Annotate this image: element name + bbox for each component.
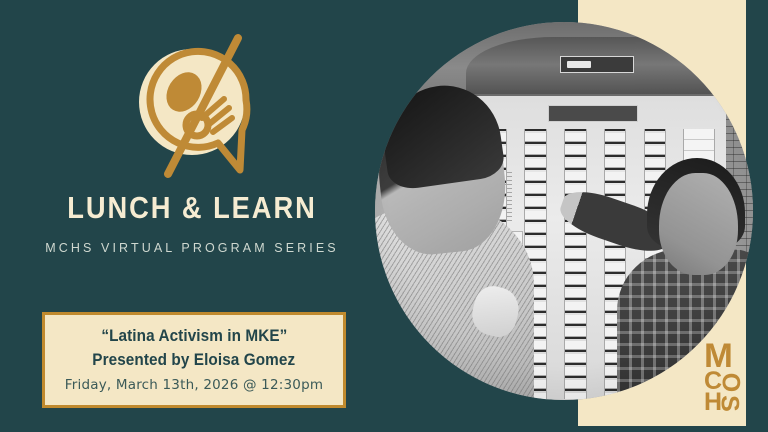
mchs-logo-o-rotated: O: [720, 373, 741, 392]
photo-illustration: LEAVE DOWN: [375, 22, 753, 400]
mchs-logo-line-1: M: [704, 343, 751, 371]
event-photo: LEAVE DOWN: [375, 22, 753, 400]
photo-machine-brand-plate: [560, 56, 634, 73]
photo-woman-face: [659, 173, 738, 275]
mchs-logo-line-3: H S: [704, 392, 750, 414]
program-subhead: MCHS VIRTUAL PROGRAM SERIES: [0, 241, 384, 255]
event-datetime: Friday, March 13th, 2026 @ 12:30pm: [65, 377, 323, 393]
program-headline: LUNCH & LEARN: [23, 192, 361, 223]
event-presenter: Presented by Eloisa Gomez: [93, 349, 296, 370]
poster-canvas: LEAVE DOWN LUN: [0, 0, 768, 432]
photo-ballot-column: [564, 129, 587, 398]
mchs-logo-s-rotated: S: [718, 396, 739, 412]
mchs-org-logo: M C O H S: [704, 343, 750, 415]
event-title: “Latina Activism in MKE”: [101, 325, 287, 346]
event-info-box: “Latina Activism in MKE” Presented by El…: [42, 312, 346, 408]
photo-ballot-header-plate: [548, 105, 637, 122]
lunch-and-learn-logo-icon: [128, 26, 264, 191]
